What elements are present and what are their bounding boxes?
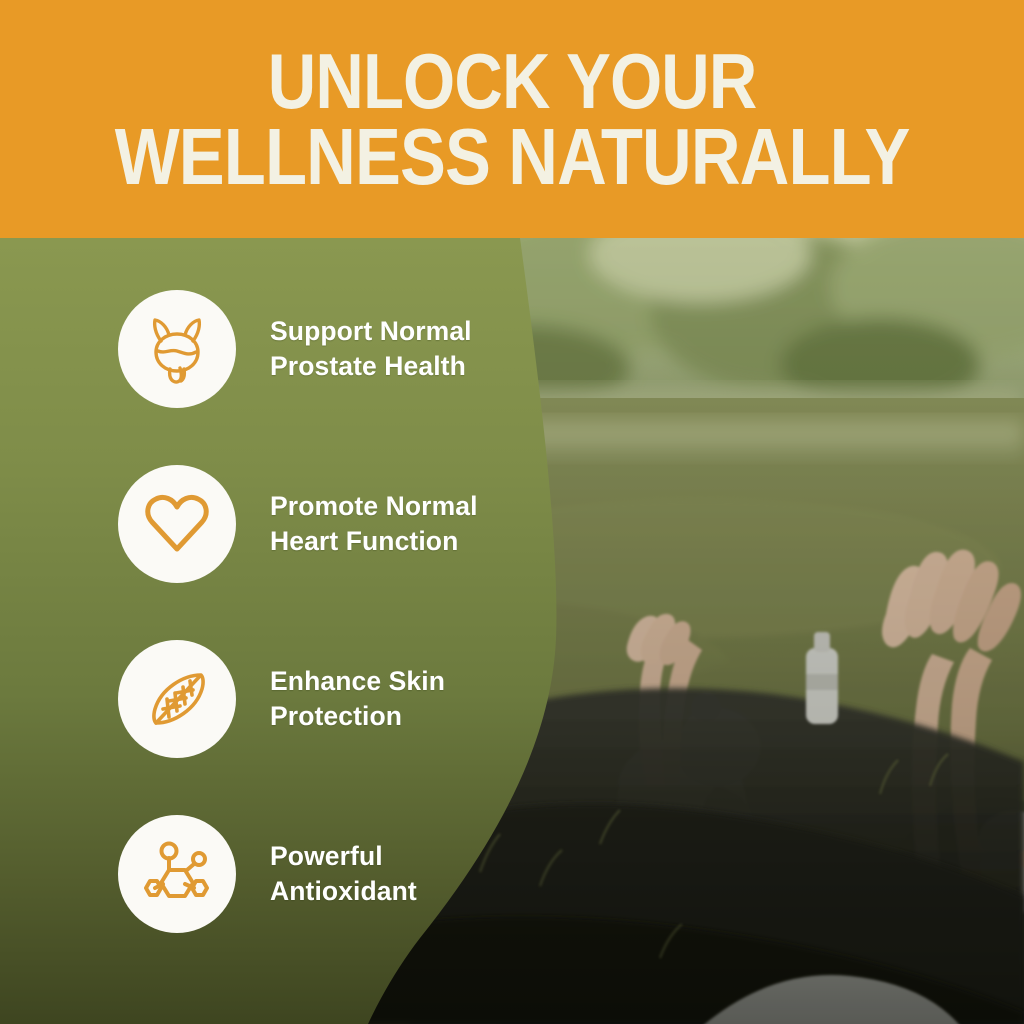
promo-banner: UNLOCK YOUR WELLNESS NATURALLY Support N… (0, 0, 1024, 1024)
benefit-item-prostate: Support Normal Prostate Health (118, 290, 472, 408)
benefit-icon-badge (118, 465, 236, 583)
molecule-icon (139, 836, 215, 912)
benefit-label: Promote Normal Heart Function (270, 489, 478, 559)
page-title-line-1: UNLOCK YOUR (268, 43, 757, 119)
benefit-icon-badge (118, 640, 236, 758)
page-title-line-2: WELLNESS NATURALLY (115, 119, 910, 195)
benefit-label: Enhance Skin Protection (270, 664, 445, 734)
benefits-list: Support Normal Prostate Health Promote N… (0, 238, 560, 1024)
benefit-icon-badge (118, 815, 236, 933)
benefit-label: Powerful Antioxidant (270, 839, 417, 909)
benefit-icon-badge (118, 290, 236, 408)
header-banner: UNLOCK YOUR WELLNESS NATURALLY (0, 0, 1024, 238)
benefit-item-antioxidant: Powerful Antioxidant (118, 815, 417, 933)
benefit-label: Support Normal Prostate Health (270, 314, 472, 384)
heart-icon (139, 486, 215, 562)
leaf-icon (139, 661, 215, 737)
benefit-item-heart: Promote Normal Heart Function (118, 465, 478, 583)
benefit-item-skin: Enhance Skin Protection (118, 640, 445, 758)
bladder-prostate-icon (139, 311, 215, 387)
